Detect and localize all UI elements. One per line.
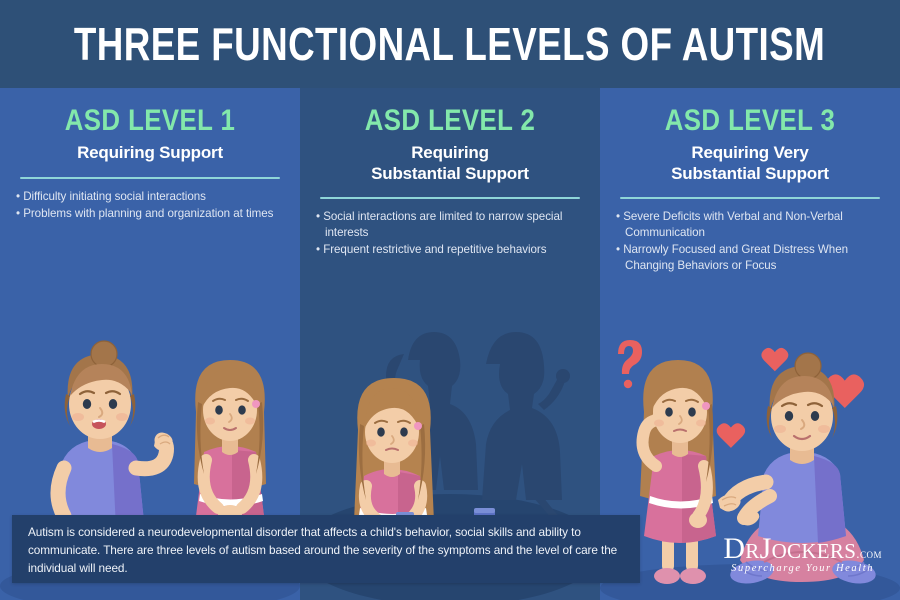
level-1-subtitle: Requiring Support bbox=[14, 143, 286, 164]
page-title: Three Functional Levels of Autism bbox=[74, 17, 825, 71]
logo-wordmark: DrJockers.com bbox=[723, 534, 882, 564]
level-3-subtitle-line1: Requiring Very bbox=[614, 143, 886, 164]
page-header: Three Functional Levels of Autism bbox=[0, 0, 900, 88]
summary-info-box: Autism is considered a neurodevelopmenta… bbox=[12, 515, 640, 583]
level-2-subtitle-line1: Requiring bbox=[314, 143, 586, 164]
level-3-bullets: Severe Deficits with Verbal and Non-Verb… bbox=[600, 199, 900, 274]
brand-logo[interactable]: DrJockers.com Supercharge Your Health bbox=[723, 534, 882, 574]
level-1-title: ASD Level 1 bbox=[33, 104, 267, 138]
logo-dotcom: .com bbox=[856, 546, 882, 561]
summary-text: Autism is considered a neurodevelopmenta… bbox=[28, 524, 626, 578]
level-card-3[interactable]: ASD Level 3 Requiring Very Substantial S… bbox=[600, 88, 900, 600]
level-3-subtitle-line2: Substantial Support bbox=[614, 164, 886, 185]
list-item: Social interactions are limited to narro… bbox=[316, 209, 586, 241]
level-2-bullets: Social interactions are limited to narro… bbox=[300, 199, 600, 258]
level-3-title: ASD Level 3 bbox=[633, 104, 867, 138]
logo-jockers: Jockers bbox=[760, 532, 857, 565]
logo-dr: Dr bbox=[723, 532, 759, 565]
level-2-subtitle: Requiring Substantial Support bbox=[314, 143, 586, 184]
list-item: Severe Deficits with Verbal and Non-Verb… bbox=[616, 209, 886, 241]
level-2-title: ASD Level 2 bbox=[333, 104, 567, 138]
list-item: Difficulty initiating social interaction… bbox=[16, 189, 286, 205]
level-2-subtitle-line2: Substantial Support bbox=[314, 164, 586, 185]
list-item: Narrowly Focused and Great Distress When… bbox=[616, 242, 886, 274]
level-1-header: ASD Level 1 Requiring Support bbox=[0, 88, 300, 179]
list-item: Frequent restrictive and repetitive beha… bbox=[316, 242, 586, 258]
level-3-header: ASD Level 3 Requiring Very Substantial S… bbox=[600, 88, 900, 199]
level-1-bullets: Difficulty initiating social interaction… bbox=[0, 179, 300, 222]
level-3-subtitle: Requiring Very Substantial Support bbox=[614, 143, 886, 184]
list-item: Problems with planning and organization … bbox=[16, 206, 286, 222]
question-mark-icon bbox=[618, 340, 642, 388]
logo-tagline: Supercharge Your Health bbox=[723, 563, 882, 574]
level-2-header: ASD Level 2 Requiring Substantial Suppor… bbox=[300, 88, 600, 199]
